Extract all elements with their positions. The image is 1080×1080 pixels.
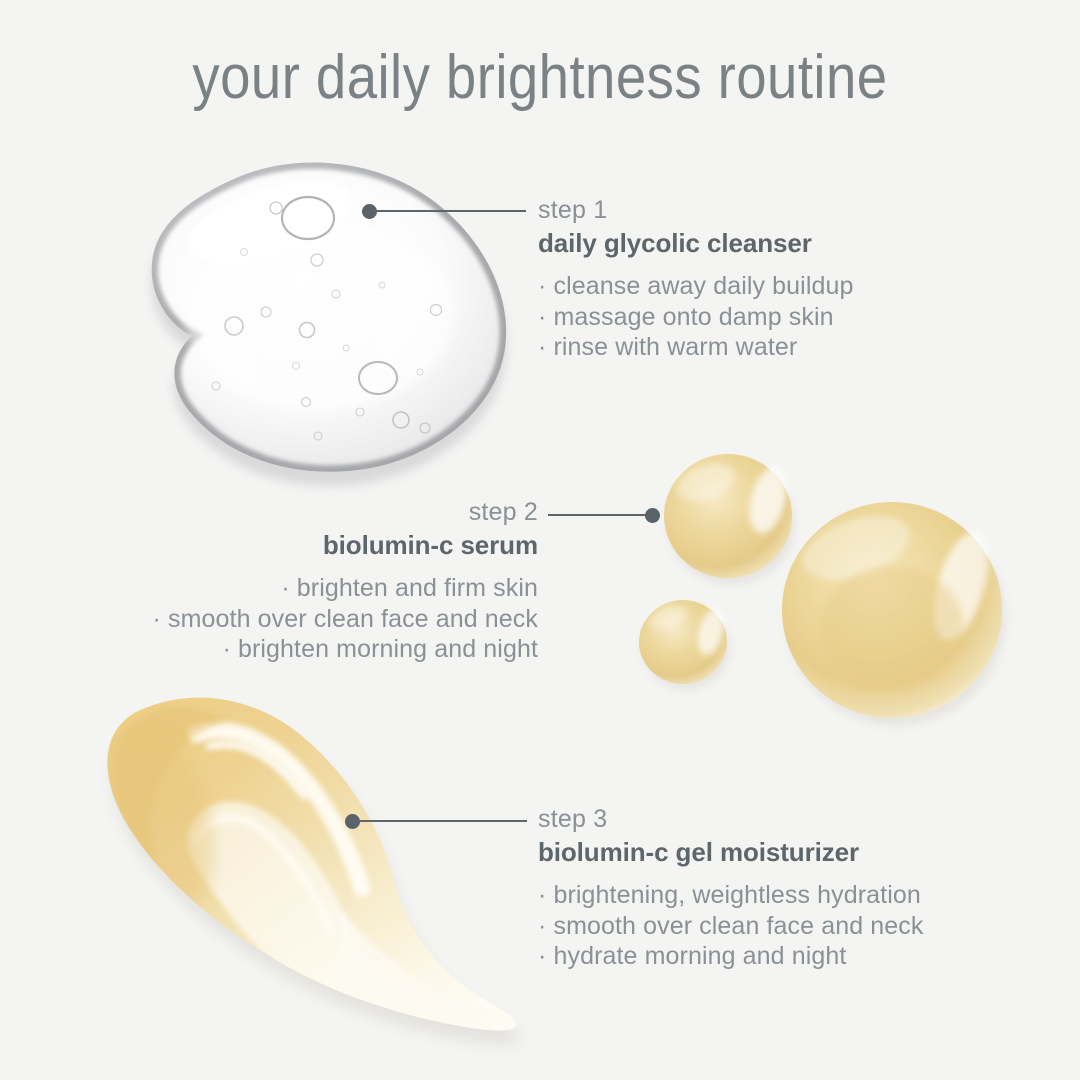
step-3-bullet-2: · smooth over clean face and neck [538,911,1008,942]
step-1-bullets: · cleanse away daily buildup · massage o… [538,271,1008,363]
step-2-label: step 2 [60,498,538,527]
step-3-block: step 3 biolumin-c gel moisturizer · brig… [538,805,1008,972]
connector-line-step-1 [374,210,526,212]
step-3-label: step 3 [538,805,1008,834]
connector-step-1 [362,203,526,219]
serum-droplet-small [639,600,730,690]
step-2-bullets: · brighten and firm skin · smooth over c… [60,573,538,665]
serum-droplets-image [620,420,1020,740]
moisturizer-swoosh-image [40,660,560,1080]
step-2-bullet-3: · brighten morning and night [60,634,538,665]
step-1-name: daily glycolic cleanser [538,227,1008,260]
step-3-bullets: · brightening, weightless hydration · sm… [538,880,1008,972]
connector-line-step-3 [357,820,527,822]
step-1-label: step 1 [538,196,1008,225]
step-1-bullet-1: · cleanse away daily buildup [538,271,1008,302]
step-2-bullet-1: · brighten and firm skin [60,573,538,604]
step-3-bullet-3: · hydrate morning and night [538,941,1008,972]
page-title: your daily brightness routine [65,42,1015,113]
gel-bubbles [212,197,442,440]
connector-step-2 [548,507,660,523]
connector-step-3 [345,813,527,829]
step-3-name: biolumin-c gel moisturizer [538,836,1008,869]
step-2-name: biolumin-c serum [60,529,538,562]
serum-droplet-medium [664,454,795,585]
connector-line-step-2 [548,514,648,516]
serum-droplet-large [782,502,1006,726]
connector-dot-step-2 [645,508,660,523]
infographic-canvas: your daily brightness routine [0,0,1080,1080]
step-1-block: step 1 daily glycolic cleanser · cleanse… [538,196,1008,363]
cleanser-gel-blob-image [120,140,540,500]
step-2-block: step 2 biolumin-c serum · brighten and f… [60,498,538,665]
step-2-bullet-2: · smooth over clean face and neck [60,604,538,635]
step-1-bullet-2: · massage onto damp skin [538,302,1008,333]
step-1-bullet-3: · rinse with warm water [538,332,1008,363]
step-3-bullet-1: · brightening, weightless hydration [538,880,1008,911]
